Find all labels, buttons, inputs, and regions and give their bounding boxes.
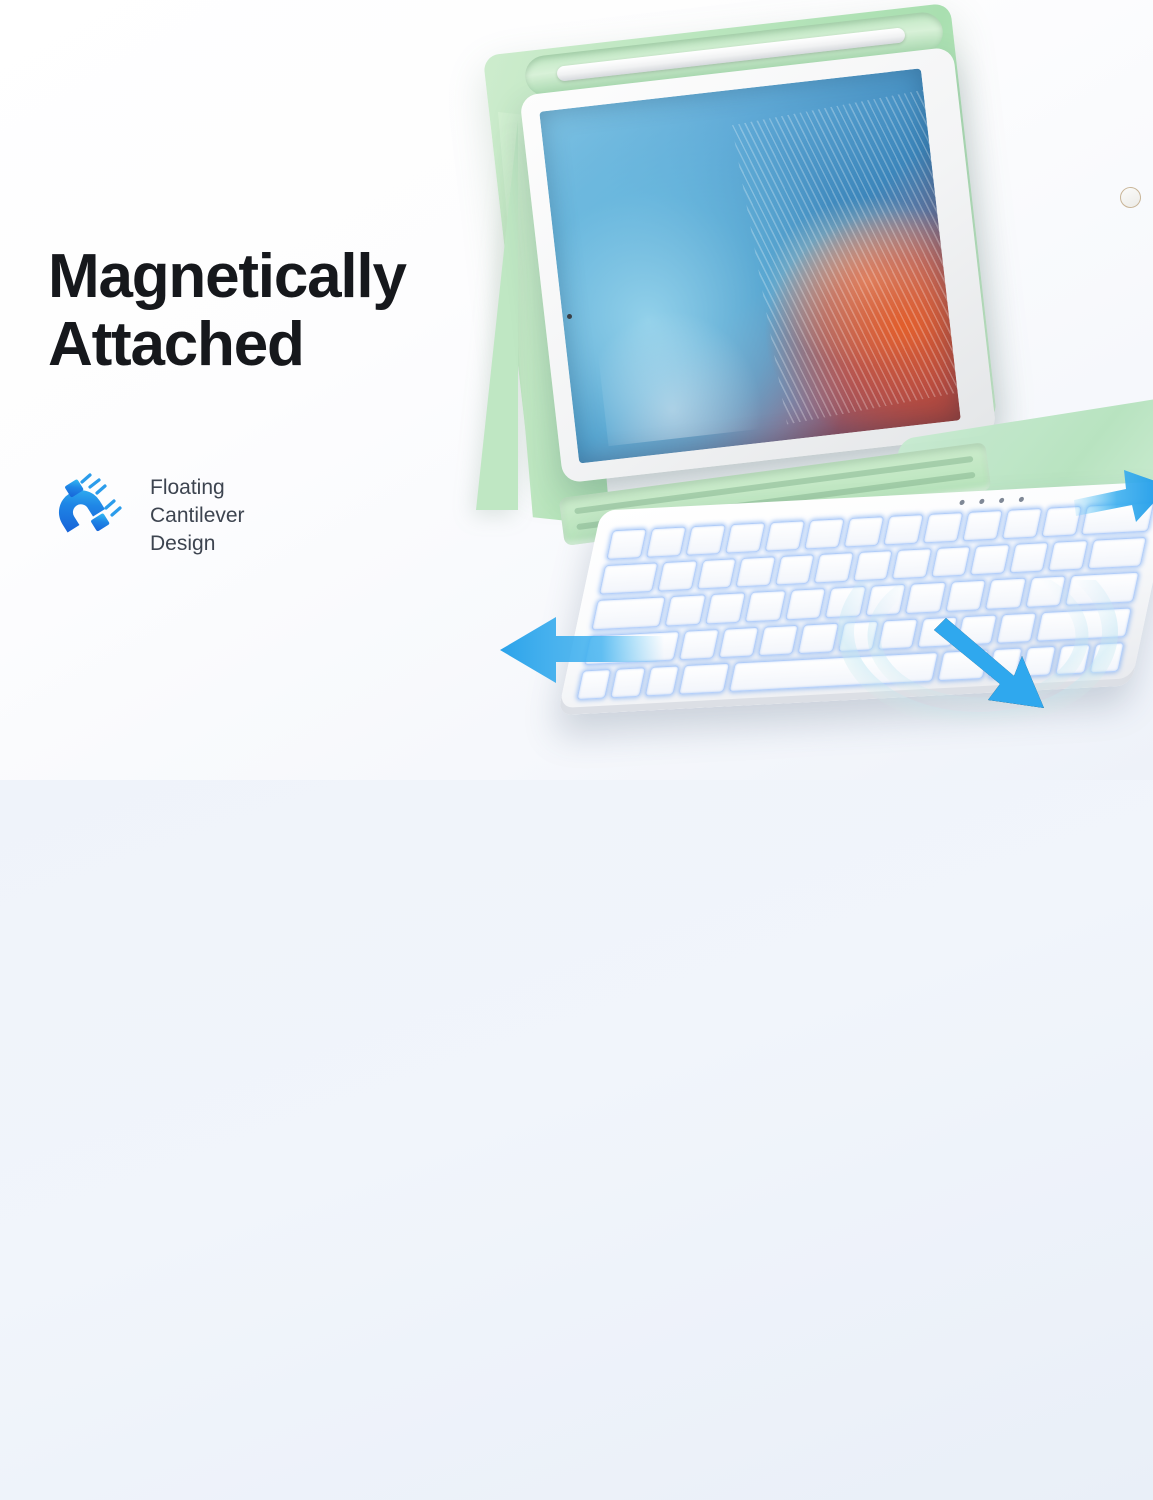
key [606, 528, 647, 560]
wallpaper-highlight [592, 286, 776, 446]
led-indicator [979, 499, 985, 504]
led-indicator [959, 500, 965, 505]
magnet-icon [52, 472, 128, 548]
feature-floating-cantilever-label: Floating Cantilever Design [150, 470, 245, 558]
key [892, 548, 932, 580]
key-tab [599, 562, 659, 595]
key [664, 595, 705, 627]
key [1002, 508, 1043, 540]
rotate-arrow-icon [838, 580, 1118, 755]
feature-floating-cantilever: Floating Cantilever Design [52, 470, 245, 558]
key [843, 516, 884, 548]
key [745, 590, 786, 622]
section-multiple-viewing-angles: Multiple Viewing Angles 11 [0, 780, 1153, 1500]
key [685, 524, 726, 556]
key [696, 558, 736, 590]
led-indicator [999, 498, 1005, 503]
key [657, 560, 697, 592]
key-command [678, 663, 729, 695]
key [719, 626, 760, 658]
home-button [1119, 186, 1142, 209]
key [923, 512, 964, 544]
key [1048, 540, 1088, 572]
key [970, 544, 1010, 576]
key [679, 628, 720, 660]
arrow-left-icon [494, 612, 664, 688]
keyboard-indicator-leds [959, 497, 1024, 505]
tablet-device [519, 47, 996, 484]
front-camera [567, 314, 572, 319]
key [804, 518, 845, 550]
key [883, 514, 924, 546]
key [962, 510, 1003, 542]
key [704, 593, 745, 625]
page-title-magnetically-attached: Magnetically Attached [48, 243, 406, 379]
key [931, 546, 971, 578]
led-indicator [1018, 497, 1024, 502]
tablet-screen-wallpaper [539, 68, 961, 463]
key [646, 526, 687, 558]
key [1009, 542, 1049, 574]
key [735, 556, 775, 588]
key [853, 550, 893, 582]
key [764, 520, 805, 552]
key [785, 588, 826, 620]
key [758, 624, 799, 656]
key [798, 622, 839, 654]
key [774, 554, 814, 586]
cantilever-stand-fold [476, 120, 518, 510]
key [725, 522, 766, 554]
product-photo-magnetic-attach [0, 0, 1153, 780]
key [1087, 537, 1147, 570]
arrow-right-icon [1074, 456, 1153, 536]
section-magnetically-attached: Magnetically Attached [0, 0, 1153, 780]
